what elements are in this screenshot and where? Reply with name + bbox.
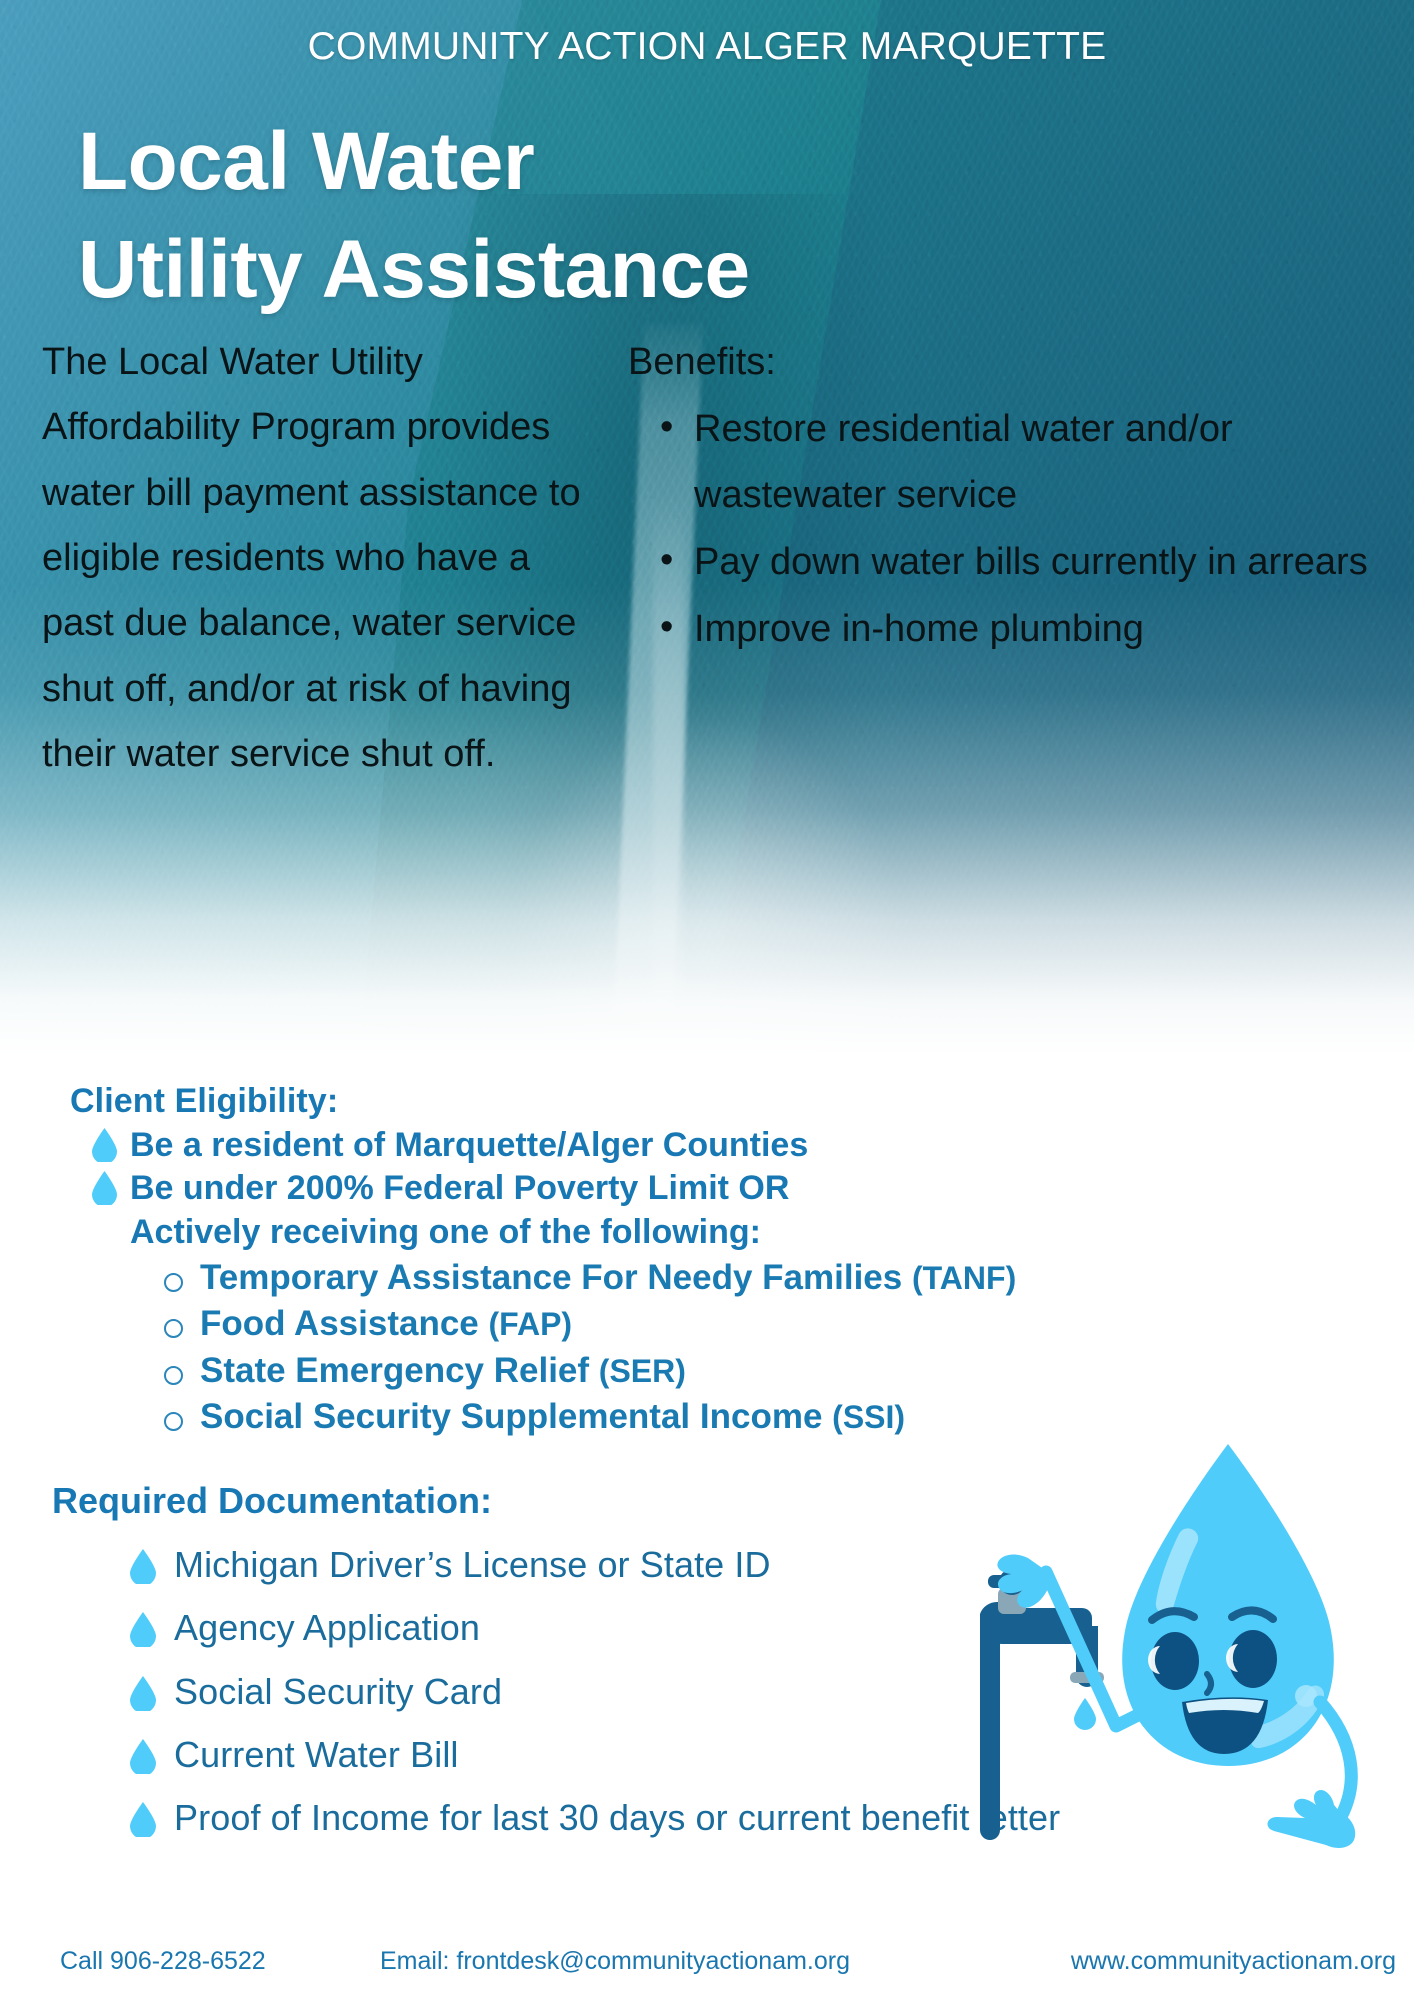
list-item: Improve in-home plumbing [628,597,1380,662]
footer-website[interactable]: www.communityactionam.org [890,1947,1414,1976]
footer-contact-bar: Call 906-228-6522 Email: frontdesk@commu… [0,1947,1414,1976]
program-acronym: (SER) [599,1353,686,1389]
water-drop-icon [130,1739,156,1774]
water-drop-icon [130,1676,156,1711]
program-name: Social Security Supplemental Income [200,1397,822,1436]
water-drop-icon [92,1128,117,1162]
eligibility-list: Be a resident of Marquette/Alger Countie… [0,1126,1414,1207]
eligibility-sub-intro: Actively receiving one of the following: [0,1213,1414,1251]
program-acronym: (FAP) [489,1306,573,1342]
eligibility-heading: Client Eligibility: [0,1082,1414,1121]
organization-name: COMMUNITY ACTION ALGER MARQUETTE [0,25,1414,69]
intro-columns: The Local Water Utility Affordability Pr… [0,330,1414,788]
client-eligibility-section: Client Eligibility: Be a resident of Mar… [0,1082,1414,1436]
list-item-label: Proof of Income for last 30 days or curr… [174,1797,1060,1838]
required-documentation-section: Required Documentation: Michigan Driver’… [0,1480,1414,1839]
list-item-label: Agency Application [174,1607,480,1648]
list-item-label: Social Security Card [174,1671,502,1712]
list-item: Food Assistance (FAP) [156,1304,1414,1343]
list-item: Social Security Card [130,1672,1414,1712]
program-description: The Local Water Utility Affordability Pr… [0,330,600,788]
list-item-label: Be a resident of Marquette/Alger Countie… [130,1126,808,1164]
list-item: Social Security Supplemental Income (SSI… [156,1397,1414,1436]
water-drop-icon [130,1549,156,1584]
list-item-label: Current Water Bill [174,1734,459,1775]
list-item: State Emergency Relief (SER) [156,1351,1414,1390]
program-acronym: (TANF) [912,1260,1016,1296]
water-drop-icon [130,1612,156,1647]
page-title-line-2: Utility Assistance [78,216,750,324]
benefits-list: Restore residential water and/or wastewa… [628,397,1380,662]
list-item-label: Michigan Driver’s License or State ID [174,1544,771,1585]
required-documentation-list: Michigan Driver’s License or State ID Ag… [0,1545,1414,1839]
benefits-heading: Benefits: [628,330,1380,395]
footer-phone[interactable]: Call 906-228-6522 [0,1947,380,1976]
benefits-column: Benefits: Restore residential water and/… [600,330,1380,788]
eligibility-program-list: Temporary Assistance For Needy Families … [0,1258,1414,1436]
list-item: Michigan Driver’s License or State ID [130,1545,1414,1585]
program-name: Food Assistance [200,1304,479,1343]
list-item: Current Water Bill [130,1735,1414,1775]
list-item: Proof of Income for last 30 days or curr… [130,1798,1414,1838]
list-item: Be under 200% Federal Poverty Limit OR [86,1169,1414,1207]
program-name: State Emergency Relief [200,1351,589,1390]
program-name: Temporary Assistance For Needy Families [200,1258,902,1297]
required-documentation-heading: Required Documentation: [0,1480,1414,1522]
list-item: Agency Application [130,1608,1414,1648]
list-item: Restore residential water and/or wastewa… [628,397,1380,528]
page-title-line-1: Local Water [78,108,750,216]
water-drop-icon [130,1802,156,1837]
page-title: Local Water Utility Assistance [78,108,750,324]
list-item: Be a resident of Marquette/Alger Countie… [86,1126,1414,1164]
list-item-label: Be under 200% Federal Poverty Limit OR [130,1169,789,1207]
list-item: Pay down water bills currently in arrear… [628,530,1380,595]
footer-email[interactable]: Email: frontdesk@communityactionam.org [380,1947,890,1976]
list-item: Temporary Assistance For Needy Families … [156,1258,1414,1297]
program-acronym: (SSI) [832,1399,905,1435]
water-drop-icon [92,1171,117,1205]
